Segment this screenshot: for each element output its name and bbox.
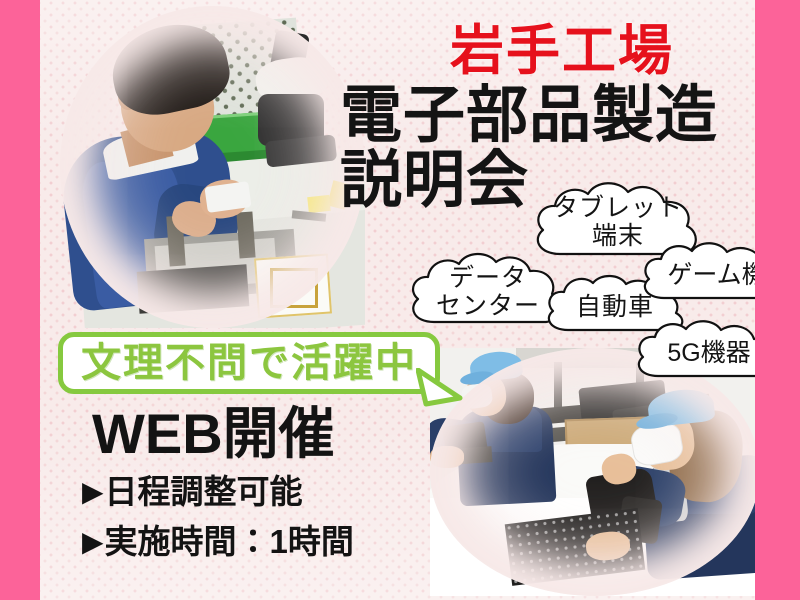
web-bullet-2: ▶ 実施時間：1時間 (82, 522, 354, 562)
web-bullet-2-text: 実施時間：1時間 (105, 522, 354, 562)
pink-sidebar-left (0, 0, 40, 600)
triangle-bullet-icon: ▶ (82, 525, 104, 559)
poster-root: 岩手工場 電子部品製造 説明会 データ センター タブレット 端末 自動車 (0, 0, 800, 600)
triangle-bullet-icon: ▶ (82, 475, 104, 509)
web-event-title: WEB開催 (92, 406, 354, 462)
headline-line-1: 電子部品製造 (340, 84, 760, 147)
photo-top-left-vignette (60, 6, 365, 328)
web-event-block: WEB開催 ▶ 日程調整可能 ▶ 実施時間：1時間 (92, 406, 354, 563)
green-banner-tail-icon (416, 368, 466, 412)
web-bullet-1: ▶ 日程調整可能 (82, 472, 354, 512)
web-bullet-1-text: 日程調整可能 (105, 472, 303, 512)
green-speech-banner: 文理不問で活躍中 (58, 332, 440, 394)
pink-sidebar-right (755, 0, 800, 600)
green-banner-box: 文理不問で活躍中 (58, 332, 440, 394)
green-banner-text: 文理不問で活躍中 (81, 343, 417, 383)
photo-top-left-microscope-worker (60, 6, 365, 328)
headline-factory-name: 岩手工場 (450, 24, 760, 78)
